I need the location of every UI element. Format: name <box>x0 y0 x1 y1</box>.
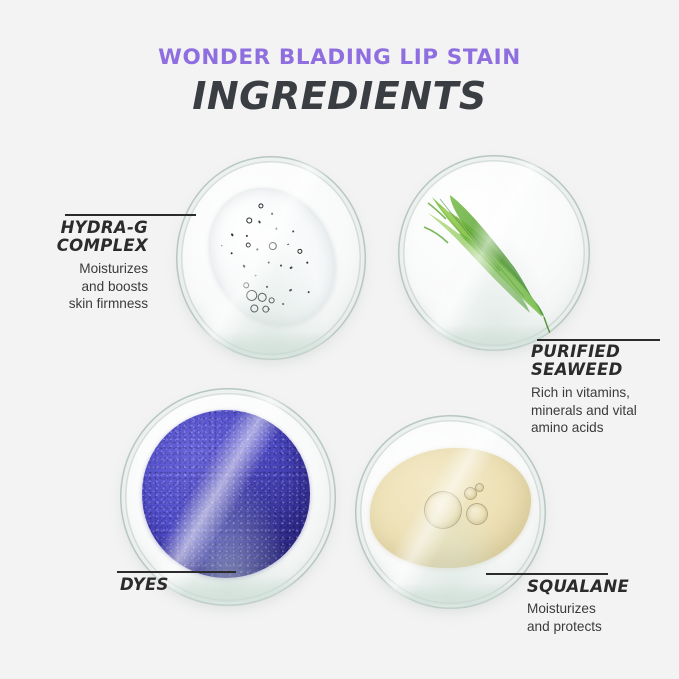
bubble-ring <box>244 287 259 302</box>
bubble-dot <box>231 251 234 254</box>
bubble-dot <box>243 264 246 267</box>
leader-line-squalane <box>486 573 608 575</box>
bubble-dot <box>245 234 248 237</box>
bubble-ring <box>267 240 278 251</box>
ingredient-name-dyes: DYES <box>120 576 240 594</box>
bubble-dot <box>221 244 223 246</box>
ingredient-desc-squalane: Moisturizes and protects <box>527 600 663 635</box>
bubble-dot <box>292 230 295 233</box>
bubble-ring <box>256 291 268 303</box>
bubble-dot <box>290 266 293 269</box>
oil-droplet-medium <box>467 504 487 524</box>
bubble-dot <box>306 261 308 263</box>
bubble-dot <box>287 243 289 245</box>
oil-droplet-large <box>425 492 461 528</box>
ingredient-desc-hydra-g: Moisturizes and boosts skin firmness <box>8 260 148 313</box>
ingredient-name-line2: SEAWEED <box>531 360 623 379</box>
petri-dish-dyes <box>120 388 336 606</box>
desc-line1: Moisturizes <box>527 601 596 616</box>
bubble-dot <box>280 264 282 266</box>
bubble-dot <box>282 302 285 305</box>
ingredient-name-squalane: SQUALANE <box>527 578 663 596</box>
callout-seaweed: PURIFIED SEAWEED Rich in vitamins, miner… <box>531 343 673 437</box>
squalane-oil-blob <box>370 448 530 568</box>
page-title: INGREDIENTS <box>0 74 679 118</box>
ingredients-infographic: WONDER BLADING LIP STAIN INGREDIENTS <box>0 0 679 679</box>
ingredient-name-line1: PURIFIED <box>531 342 620 361</box>
brand-title: WONDER BLADING LIP STAIN <box>0 45 679 70</box>
bubble-dot <box>231 233 234 236</box>
ingredient-desc-seaweed: Rich in vitamins, minerals and vital ami… <box>531 384 673 437</box>
bubble-ring <box>249 302 260 313</box>
bubble-dot <box>289 288 292 291</box>
desc-line2: minerals and vital <box>531 403 637 418</box>
bubble-dot <box>271 212 274 215</box>
petri-dish-seaweed <box>398 155 590 351</box>
desc-line3: skin firmness <box>69 296 148 311</box>
blue-dye-powder <box>142 410 310 578</box>
ingredient-name-line1: HYDRA-G <box>61 218 148 237</box>
petri-dish-squalane <box>355 415 546 609</box>
bubble-ring <box>296 247 303 254</box>
ingredient-name-hydra-g: HYDRA-G COMPLEX <box>8 219 148 256</box>
ingredient-name-seaweed: PURIFIED SEAWEED <box>531 343 673 380</box>
bubble-dot <box>258 220 261 223</box>
ingredient-name-line2: COMPLEX <box>57 236 148 255</box>
oil-droplet-small <box>465 488 476 499</box>
seaweed-illustration <box>398 155 590 351</box>
callout-hydra-g: HYDRA-G COMPLEX Moisturizes and boosts s… <box>8 219 148 313</box>
desc-line1: Rich in vitamins, <box>531 385 630 400</box>
desc-line1: Moisturizes <box>79 261 148 276</box>
desc-line2: and boosts <box>81 279 148 294</box>
bubble-ring <box>245 216 253 224</box>
leader-line-hydra-g <box>65 214 196 216</box>
bubble-ring <box>267 296 275 304</box>
oil-droplet-tiny <box>476 484 483 491</box>
leader-line-seaweed <box>537 339 660 341</box>
bubble-dot <box>307 290 310 293</box>
bubble-ring <box>245 241 252 248</box>
callout-squalane: SQUALANE Moisturizes and protects <box>527 578 663 636</box>
desc-line3: amino acids <box>531 420 604 435</box>
bubble-ring <box>258 202 265 209</box>
bubble-dot <box>267 261 270 264</box>
leader-line-dyes <box>117 571 236 573</box>
bubble-dot <box>275 227 278 230</box>
bubble-dot <box>256 248 258 250</box>
bubble-ring <box>242 281 250 289</box>
desc-line2: and protects <box>527 619 602 634</box>
bubble-dot <box>266 285 269 288</box>
callout-dyes: DYES <box>120 576 240 594</box>
bubble-dot <box>254 274 256 276</box>
dish-rim-highlight <box>370 582 530 605</box>
dish-rim-highlight <box>191 331 351 355</box>
petri-dish-hydra-g <box>176 156 366 360</box>
gel-blob <box>184 164 360 348</box>
